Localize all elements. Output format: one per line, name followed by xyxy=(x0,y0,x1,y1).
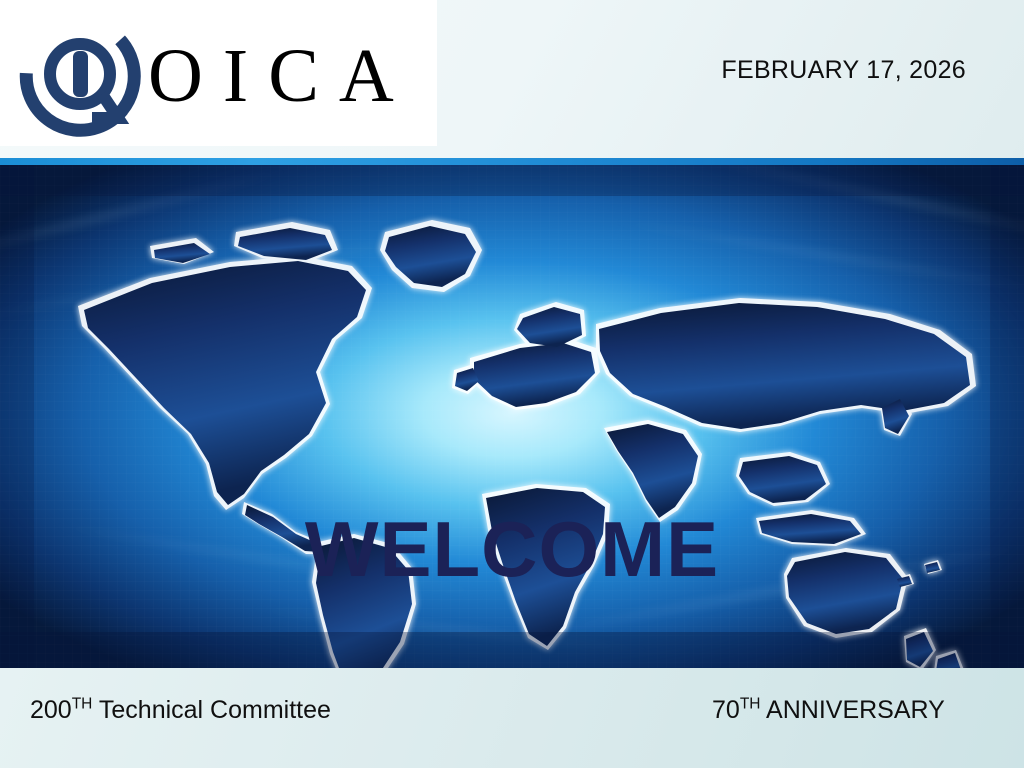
footer-anniversary-label: 70TH ANNIVERSARY xyxy=(712,696,945,725)
slide-header: OICA FEBRUARY 17, 2026 xyxy=(0,0,1024,158)
oica-at-mark-logo-icon xyxy=(18,14,142,138)
footer-anniversary-text: ANNIVERSARY xyxy=(760,696,944,724)
world-map-banner: WELCOME xyxy=(0,158,1024,668)
footer-committee-label: 200TH Technical Committee xyxy=(30,696,331,725)
footer-anniversary-ordinal: TH xyxy=(740,696,761,713)
oica-wordmark: OICA xyxy=(148,26,414,126)
logo-container: OICA xyxy=(0,0,437,146)
footer-committee-number: 200 xyxy=(30,696,72,724)
slide-footer: 200TH Technical Committee 70TH ANNIVERSA… xyxy=(0,668,1024,768)
slide-date: FEBRUARY 17, 2026 xyxy=(721,56,966,85)
footer-anniversary-number: 70 xyxy=(712,696,740,724)
footer-committee-ordinal: TH xyxy=(72,696,93,713)
welcome-headline: WELCOME xyxy=(0,510,1024,588)
map-top-accent-strip xyxy=(0,158,1024,165)
footer-committee-text: Technical Committee xyxy=(92,696,331,724)
presentation-slide: OICA FEBRUARY 17, 2026 xyxy=(0,0,1024,768)
